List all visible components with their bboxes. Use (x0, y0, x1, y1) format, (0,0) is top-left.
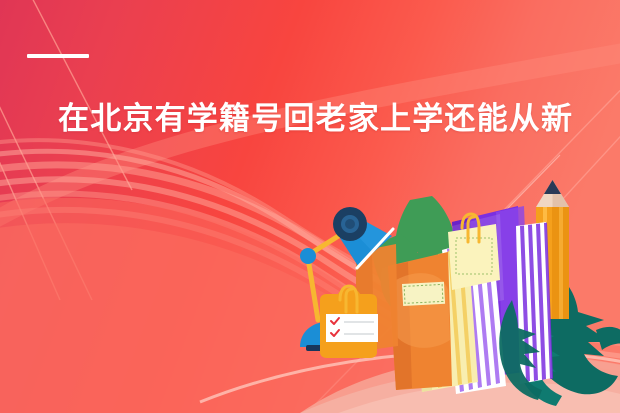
orange-notebook (388, 252, 452, 390)
promo-banner: 在北京有学籍号回老家上学还能从新 (0, 0, 620, 413)
cream-note-card (448, 224, 500, 290)
school-supplies-illustration (0, 0, 620, 413)
clipboard (320, 286, 378, 358)
top-rule (27, 54, 89, 58)
page-title: 在北京有学籍号回老家上学还能从新 (58, 101, 573, 138)
